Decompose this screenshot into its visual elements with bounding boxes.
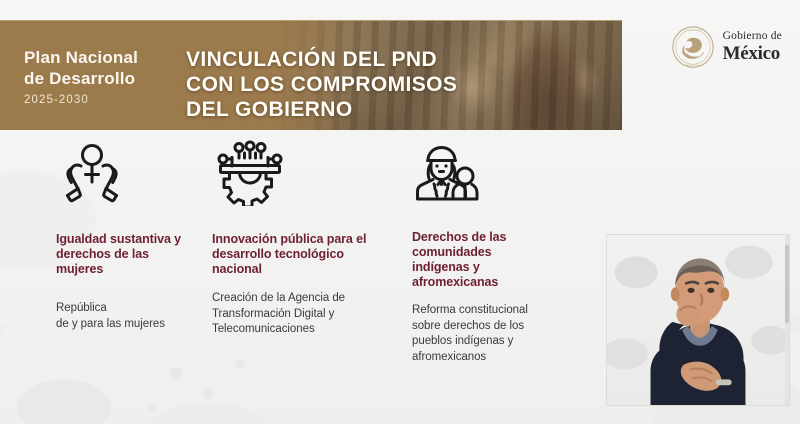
column-2-icon-wrap	[212, 140, 384, 208]
column-3-title: Derechos de las comunidades indígenas y …	[412, 230, 544, 290]
indigenous-woman-with-child-icon	[412, 140, 484, 206]
svg-text:ESTADOS UNIDOS: ESTADOS UNIDOS	[683, 29, 703, 32]
content-columns: Igualdad sustantiva y derechos de las mu…	[0, 140, 600, 380]
plan-years: 2025-2030	[24, 94, 138, 106]
logo-line-gobierno-de: Gobierno de	[723, 31, 782, 43]
plan-identifier: Plan Nacional de Desarrollo 2025-2030	[24, 47, 138, 106]
interpreter-figure	[607, 235, 789, 405]
video-scrollbar[interactable]	[785, 235, 789, 405]
column-2-title: Innovación pública para el desarrollo te…	[212, 232, 384, 277]
hands-holding-female-symbol-icon	[56, 140, 128, 206]
mexican-coat-of-arms-seal-icon: ESTADOS UNIDOS MEXICANOS	[672, 26, 714, 68]
column-3-icon-wrap	[412, 140, 544, 208]
column-3-body: Reforma constitucional sobre derechos de…	[412, 303, 544, 365]
column-1-title: Igualdad sustantiva y derechos de las mu…	[56, 232, 196, 277]
column-innovacion-publica: Innovación pública para el desarrollo te…	[212, 140, 384, 338]
gear-circuit-technology-icon	[212, 140, 288, 206]
logo-line-mexico: México	[723, 44, 782, 63]
slide-title-line2: CON LOS COMPROMISOS	[186, 72, 457, 97]
column-igualdad-sustantiva: Igualdad sustantiva y derechos de las mu…	[56, 140, 196, 332]
column-derechos-indigenas: Derechos de las comunidades indígenas y …	[412, 140, 544, 365]
slide-title: VINCULACIÓN DEL PND CON LOS COMPROMISOS …	[186, 47, 457, 122]
column-2-body: Creación de la Agencia de Transformación…	[212, 291, 384, 338]
header-banner: Plan Nacional de Desarrollo 2025-2030 VI…	[0, 20, 622, 130]
column-1-body: República de y para las mujeres	[56, 301, 196, 332]
presentation-slide: Plan Nacional de Desarrollo 2025-2030 VI…	[0, 0, 800, 424]
plan-title-line2: de Desarrollo	[24, 68, 138, 89]
slide-title-line3: DEL GOBIERNO	[186, 97, 457, 122]
plan-title-line1: Plan Nacional	[24, 47, 138, 68]
gobierno-logo-text: Gobierno de México	[723, 31, 782, 63]
slide-title-line1: VINCULACIÓN DEL PND	[186, 47, 457, 72]
gobierno-de-mexico-logo: ESTADOS UNIDOS MEXICANOS Gobierno de Méx…	[672, 26, 782, 68]
sign-language-interpreter-video[interactable]	[606, 234, 790, 406]
column-1-icon-wrap	[56, 140, 196, 208]
